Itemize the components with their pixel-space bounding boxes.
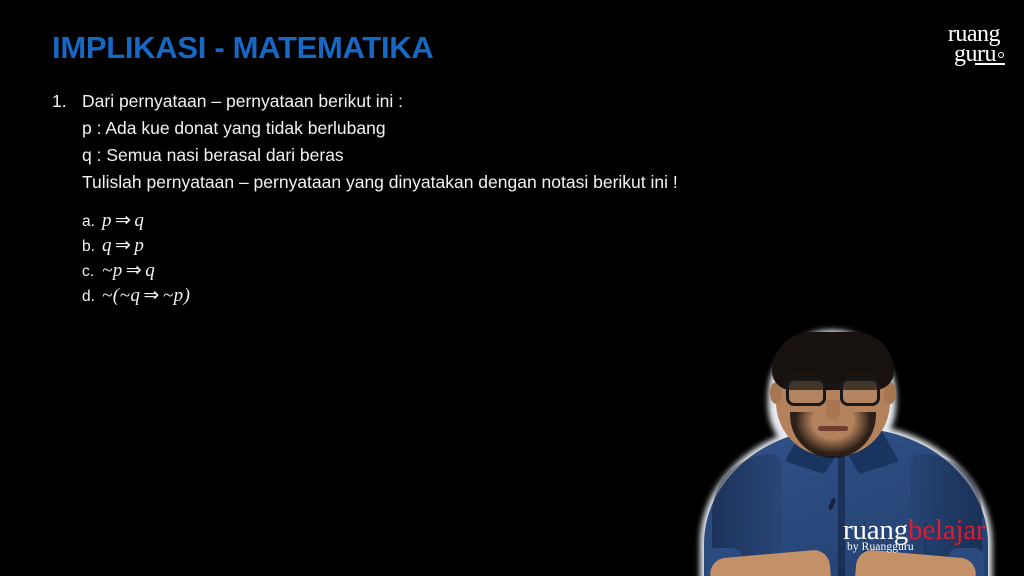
option-a-expression: p⇒q	[102, 209, 144, 232]
option-d-operator: ⇒	[140, 285, 162, 306]
option-a-operator: ⇒	[112, 210, 134, 231]
option-c-operator: ⇒	[123, 260, 145, 281]
option-d-right: ~p)	[163, 285, 191, 306]
option-c-label: c.	[82, 263, 102, 281]
option-b: b. q⇒p	[82, 234, 190, 259]
watermark-subtitle: by Ruangguru	[847, 542, 914, 554]
presenter-mouth	[818, 426, 848, 431]
question-instruction: Tulislah pernyataan – pernyataan yang di…	[52, 169, 852, 196]
option-b-operator: ⇒	[112, 235, 134, 256]
option-b-left: q	[102, 235, 112, 256]
ruangbelajar-watermark: ruangbelajar by Ruangguru	[843, 516, 986, 545]
option-c: c. ~p⇒q	[82, 259, 190, 284]
page-title: IMPLIKASI - MATEMATIKA	[52, 30, 433, 66]
options-list: a. p⇒q b. q⇒p c. ~p⇒q d. ~(~q⇒~p)	[82, 209, 190, 309]
question-block: 1. Dari pernyataan – pernyataan berikut …	[52, 88, 852, 196]
presenter-glasses-right-lens	[840, 378, 880, 406]
option-c-left: ~p	[102, 260, 123, 281]
question-prompt-line: 1. Dari pernyataan – pernyataan berikut …	[52, 88, 852, 115]
statement-p: p : Ada kue donat yang tidak berlubang	[52, 115, 852, 142]
option-a-left: p	[102, 210, 112, 231]
option-d-label: d.	[82, 288, 102, 306]
question-prompt: Dari pernyataan – pernyataan berikut ini…	[82, 88, 403, 115]
option-c-right: q	[145, 260, 155, 281]
ruangguru-logo: ruang guru	[914, 22, 1006, 74]
question-number: 1.	[52, 88, 82, 115]
lesson-slide: IMPLIKASI - MATEMATIKA ruang guru 1. Dar…	[0, 0, 1024, 576]
presenter-eyebrow-right	[846, 372, 876, 377]
option-d: d. ~(~q⇒~p)	[82, 284, 190, 309]
option-d-left: ~(~q	[102, 285, 140, 306]
option-a-right: q	[134, 210, 144, 231]
option-b-label: b.	[82, 238, 102, 256]
logo-underline-mark	[975, 63, 1005, 65]
presenter-eyebrow-left	[790, 372, 820, 377]
option-d-expression: ~(~q⇒~p)	[102, 284, 190, 307]
watermark-belajar: belajar	[908, 514, 986, 546]
option-a-label: a.	[82, 213, 102, 231]
presenter-glasses-bridge	[825, 384, 841, 387]
option-a: a. p⇒q	[82, 209, 190, 234]
option-c-expression: ~p⇒q	[102, 259, 155, 282]
option-b-right: p	[134, 235, 144, 256]
statement-q: q : Semua nasi berasal dari beras	[52, 142, 852, 169]
presenter-glasses-left-lens	[786, 378, 826, 406]
logo-circle-mark	[998, 52, 1004, 58]
option-b-expression: q⇒p	[102, 234, 144, 257]
